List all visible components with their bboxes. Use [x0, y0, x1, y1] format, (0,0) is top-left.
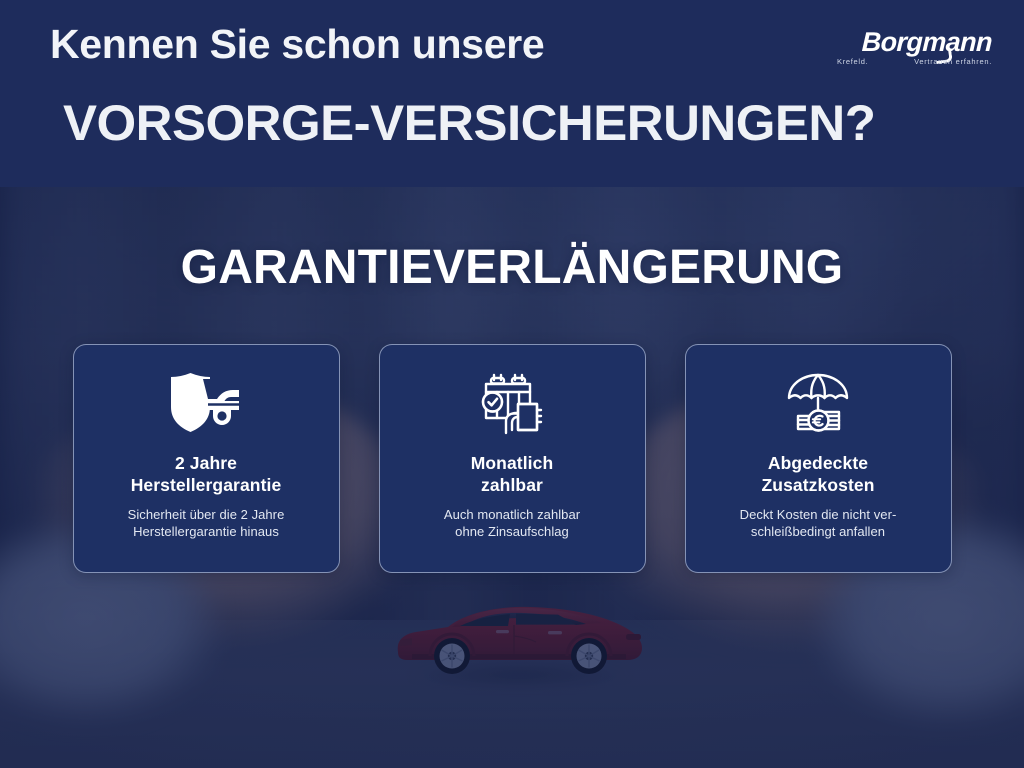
promo-banner: Kennen Sie schon unsere VORSORGE-VERSICH…: [0, 0, 1024, 768]
header-subtitle: Kennen Sie schon unsere: [50, 21, 544, 68]
brand-wordmark: Borgmann: [837, 28, 993, 56]
card-title: Monatlich zahlbar: [471, 452, 554, 497]
card-desc-line2: schleißbedingt anfallen: [740, 523, 897, 541]
brand-logo[interactable]: Borgmann Krefeld. Vertrauen erfahren.: [837, 28, 992, 72]
card-desc-line1: Auch monatlich zahlbar: [444, 506, 580, 524]
brand-tagline-right: Vertrauen erfahren.: [914, 57, 992, 66]
card-title-line1: 2 Jahre: [131, 452, 282, 474]
card-desc-line1: Sicherheit über die 2 Jahre: [128, 506, 285, 524]
page-title: GARANTIEVERLÄNGERUNG: [0, 240, 1024, 295]
card-title-line2: Herstellergarantie: [131, 474, 282, 496]
card-description: Sicherheit über die 2 Jahre Herstellerga…: [128, 506, 285, 541]
umbrella-euro-coins-icon: [781, 371, 855, 441]
card-title: Abgedeckte Zusatzkosten: [761, 452, 874, 497]
feature-card-monthly-payment[interactable]: Monatlich zahlbar Auch monatlich zahlbar…: [379, 344, 646, 573]
card-description: Deckt Kosten die nicht ver- schleißbedin…: [740, 506, 897, 541]
calendar-check-hand-card-icon: [475, 371, 549, 441]
header-band: Kennen Sie schon unsere VORSORGE-VERSICH…: [0, 0, 1024, 187]
shield-car-icon: [169, 371, 243, 441]
card-desc-line1: Deckt Kosten die nicht ver-: [740, 506, 897, 524]
card-description: Auch monatlich zahlbar ohne Zinsaufschla…: [444, 506, 580, 541]
header-title: VORSORGE-VERSICHERUNGEN?: [63, 94, 875, 152]
card-title: 2 Jahre Herstellergarantie: [131, 452, 282, 497]
brand-tagline-left: Krefeld.: [837, 57, 868, 66]
feature-card-extra-costs[interactable]: Abgedeckte Zusatzkosten Deckt Kosten die…: [685, 344, 952, 573]
feature-card-warranty[interactable]: 2 Jahre Herstellergarantie Sicherheit üb…: [73, 344, 340, 573]
card-title-line1: Abgedeckte: [761, 452, 874, 474]
brand-tagline: Krefeld. Vertrauen erfahren.: [837, 57, 992, 66]
feature-card-list: 2 Jahre Herstellergarantie Sicherheit üb…: [0, 344, 1024, 573]
card-desc-line2: ohne Zinsaufschlag: [444, 523, 580, 541]
card-desc-line2: Herstellergarantie hinaus: [128, 523, 285, 541]
card-title-line2: zahlbar: [471, 474, 554, 496]
card-title-line2: Zusatzkosten: [761, 474, 874, 496]
card-title-line1: Monatlich: [471, 452, 554, 474]
